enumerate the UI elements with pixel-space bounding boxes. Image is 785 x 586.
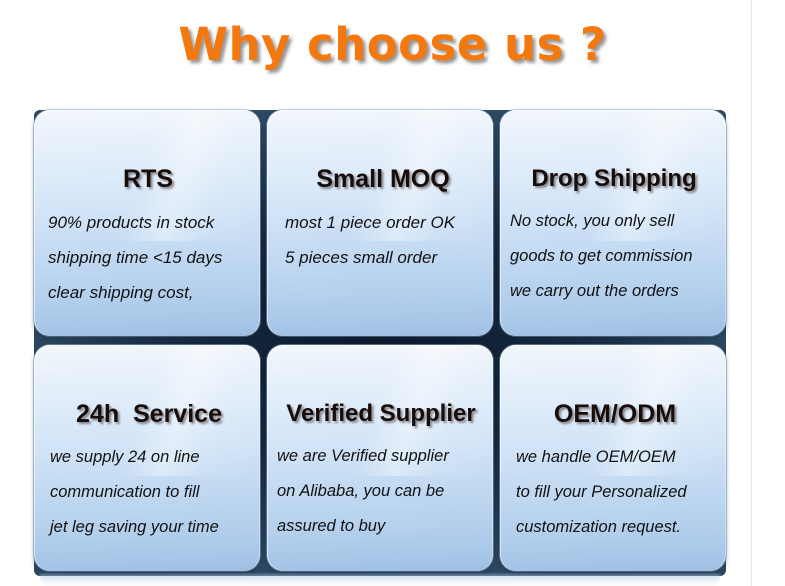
feature-card-24h-service: 24h Service we supply 24 on line communi… bbox=[34, 345, 260, 571]
feature-card-line: we carry out the orders bbox=[510, 274, 718, 309]
feature-card-body: we handle OEM/OEM to fill your Personali… bbox=[516, 440, 714, 545]
feature-card-heading: OEM/ODM bbox=[516, 401, 714, 427]
feature-card-inner: RTS 90% products in stock shipping time … bbox=[34, 110, 260, 336]
feature-card-body: we supply 24 on line communication to fi… bbox=[50, 440, 248, 545]
page-title-wrap: Why choose us ? bbox=[0, 18, 785, 71]
feature-card-line: we are Verified supplier bbox=[277, 439, 485, 474]
feature-card-line: assured to buy bbox=[277, 509, 485, 544]
why-choose-us-banner: Why choose us ? RTS 90% products in stoc… bbox=[0, 0, 785, 586]
feature-card-line: goods to get commission bbox=[510, 239, 718, 274]
feature-card-line: communication to fill bbox=[50, 475, 248, 510]
feature-card-line: 90% products in stock bbox=[48, 205, 248, 240]
feature-card-oem-odm: OEM/ODM we handle OEM/OEM to fill your P… bbox=[500, 345, 726, 571]
feature-card-line: No stock, you only sell bbox=[510, 204, 718, 239]
feature-card-drop-shipping: Drop Shipping No stock, you only sell go… bbox=[500, 110, 726, 336]
feature-card-line: to fill your Personalized bbox=[516, 475, 714, 510]
feature-card-heading: 24h Service bbox=[50, 401, 248, 427]
feature-card-line: most 1 piece order OK bbox=[285, 205, 481, 240]
feature-card-line: 5 pieces small order bbox=[285, 240, 481, 275]
right-edge-rule bbox=[751, 0, 752, 586]
feature-card-inner: 24h Service we supply 24 on line communi… bbox=[34, 345, 260, 571]
feature-card-heading: RTS bbox=[48, 166, 248, 192]
feature-card-heading: Small MOQ bbox=[285, 166, 481, 192]
feature-card-inner: Small MOQ most 1 piece order OK 5 pieces… bbox=[267, 110, 493, 336]
feature-card-rts: RTS 90% products in stock shipping time … bbox=[34, 110, 260, 336]
feature-card-line: customization request. bbox=[516, 510, 714, 545]
feature-card-small-moq: Small MOQ most 1 piece order OK 5 pieces… bbox=[267, 110, 493, 336]
feature-card-line: we supply 24 on line bbox=[50, 440, 248, 475]
feature-card-body: most 1 piece order OK 5 pieces small ord… bbox=[285, 205, 481, 275]
feature-card-body: 90% products in stock shipping time <15 … bbox=[48, 205, 248, 310]
feature-card-inner: Drop Shipping No stock, you only sell go… bbox=[500, 110, 726, 336]
feature-card-line: jet leg saving your time bbox=[50, 510, 248, 545]
feature-card-line: clear shipping cost, bbox=[48, 275, 248, 310]
feature-card-heading: Drop Shipping bbox=[510, 166, 718, 191]
feature-card-heading: Verified Supplier bbox=[277, 401, 485, 426]
feature-card-inner: Verified Supplier we are Verified suppli… bbox=[267, 345, 493, 571]
feature-card-body: we are Verified supplier on Alibaba, you… bbox=[277, 439, 485, 544]
feature-card-line: shipping time <15 days bbox=[48, 240, 248, 275]
page-title: Why choose us ? bbox=[178, 18, 606, 71]
feature-card-inner: OEM/ODM we handle OEM/OEM to fill your P… bbox=[500, 345, 726, 571]
feature-card-body: No stock, you only sell goods to get com… bbox=[510, 204, 718, 309]
feature-card-verified-supplier: Verified Supplier we are Verified suppli… bbox=[267, 345, 493, 571]
feature-card-line: on Alibaba, you can be bbox=[277, 474, 485, 509]
feature-card-line: we handle OEM/OEM bbox=[516, 440, 714, 475]
card-grid-reflection bbox=[40, 574, 720, 586]
card-grid: RTS 90% products in stock shipping time … bbox=[34, 110, 726, 576]
